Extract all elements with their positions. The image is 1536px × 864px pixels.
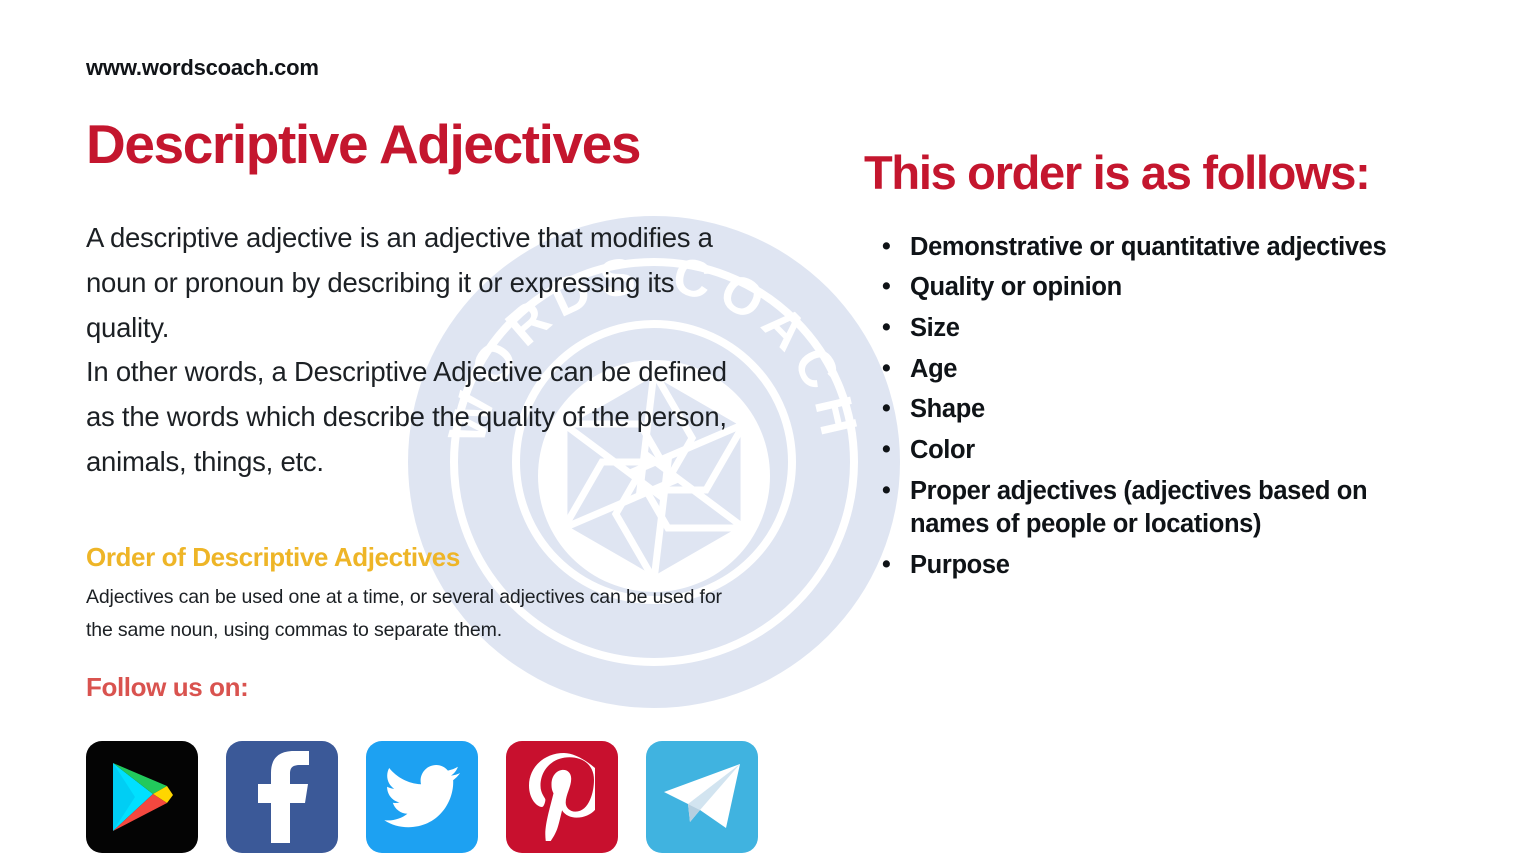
list-item: Shape: [864, 393, 1394, 427]
list-item: Proper adjectives (adjectives based on n…: [864, 475, 1394, 542]
site-url: www.wordscoach.com: [86, 56, 766, 80]
right-column: This order is as follows: Demonstrative …: [864, 148, 1484, 590]
list-item: Demonstrative or quantitative adjectives: [864, 231, 1394, 265]
google-play-icon[interactable]: [86, 741, 198, 853]
pinterest-icon[interactable]: [506, 741, 618, 853]
list-item: Purpose: [864, 549, 1394, 583]
social-links-row: [86, 741, 758, 853]
order-of-adjectives-heading: Order of Descriptive Adjectives: [86, 543, 766, 572]
list-item: Size: [864, 312, 1394, 346]
intro-paragraph: A descriptive adjective is an adjective …: [86, 216, 754, 485]
list-item: Age: [864, 353, 1394, 387]
list-item: Quality or opinion: [864, 271, 1394, 305]
left-column: www.wordscoach.com Descriptive Adjective…: [86, 56, 766, 701]
order-of-adjectives-paragraph: Adjectives can be used one at a time, or…: [86, 581, 734, 646]
infographic-slide: www.wordscoach.com Descriptive Adjective…: [0, 0, 1536, 864]
page-title: Descriptive Adjectives: [86, 116, 766, 174]
telegram-icon[interactable]: [646, 741, 758, 853]
facebook-icon[interactable]: [226, 741, 338, 853]
order-list-heading: This order is as follows:: [864, 148, 1484, 199]
adjective-order-list: Demonstrative or quantitative adjectives…: [864, 231, 1484, 583]
twitter-icon[interactable]: [366, 741, 478, 853]
list-item: Color: [864, 434, 1394, 468]
follow-us-heading: Follow us on:: [86, 673, 766, 702]
